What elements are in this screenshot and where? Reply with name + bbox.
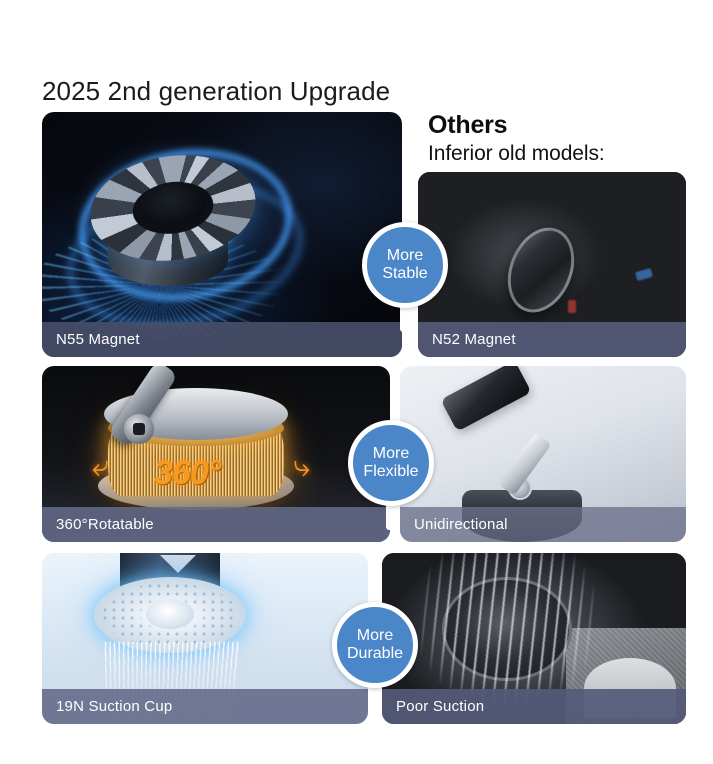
suction-cup-center — [146, 599, 194, 629]
caption-unidirectional: Unidirectional — [400, 507, 686, 542]
card-theirs-unidirectional: Unidirectional — [400, 366, 686, 542]
card-ours-360: ⤶ ⤷ 360° 360°Rotatable — [42, 366, 390, 542]
card-ours-n55: N55 Magnet — [42, 112, 402, 357]
overlay-360-label: 360° — [154, 454, 220, 493]
others-heading-block: Others Inferior old models: — [428, 112, 678, 166]
art-n55-magnet — [42, 112, 402, 357]
pressure-arrow-icon — [160, 555, 196, 573]
badge-more-stable-circle: More Stable — [362, 222, 448, 308]
dashboard-blue-light — [635, 268, 653, 281]
comparison-infographic: 2025 2nd generation Upgrade Others Infer… — [0, 0, 713, 764]
badge-more-durable-circle: More Durable — [332, 602, 418, 688]
rotate-arrow-right-icon: ⤷ — [252, 452, 310, 482]
page-title: 2025 2nd generation Upgrade — [42, 76, 390, 107]
mount-joint — [124, 414, 154, 444]
badge-more-stable[interactable]: More Stable — [362, 222, 448, 308]
caption-poor-suction: Poor Suction — [382, 689, 686, 724]
badge-line-1: More — [387, 247, 423, 265]
badge-line-2: Durable — [347, 645, 403, 663]
card-theirs-poor-suction: Poor Suction — [382, 553, 686, 724]
card-theirs-n52: N52 Magnet — [418, 172, 686, 357]
badge-line-2: Stable — [382, 265, 427, 283]
badge-more-flexible-circle: More Flexible — [348, 420, 434, 506]
card-ours-suction: 19N Suction Cup — [42, 553, 368, 724]
others-title: Others — [428, 112, 678, 140]
badge-more-durable[interactable]: More Durable — [332, 602, 418, 688]
badge-line-2: Flexible — [363, 463, 418, 481]
dashboard-red-light — [568, 300, 576, 313]
rotate-arrow-left-icon: ⤶ — [92, 452, 150, 482]
badge-more-flexible[interactable]: More Flexible — [348, 420, 434, 506]
others-subtitle: Inferior old models: — [428, 141, 678, 166]
badge-line-1: More — [357, 627, 393, 645]
caption-n55: N55 Magnet — [42, 322, 402, 357]
caption-n52: N52 Magnet — [418, 322, 686, 357]
unidirectional-head — [440, 366, 531, 432]
caption-360-rotatable: 360°Rotatable — [42, 507, 390, 542]
caption-19n-suction-cup: 19N Suction Cup — [42, 689, 368, 724]
badge-line-1: More — [373, 445, 409, 463]
